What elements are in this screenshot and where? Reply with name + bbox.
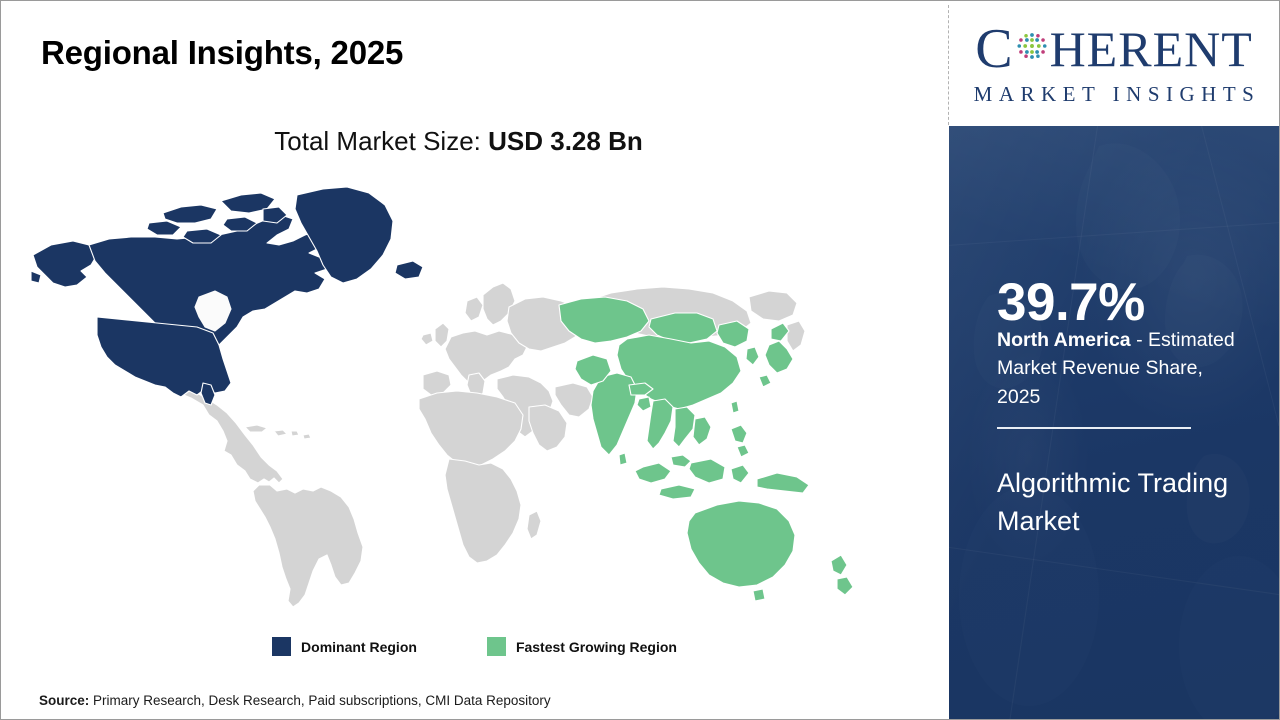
- logo-letter-c: C: [975, 21, 1013, 77]
- source-label: Source:: [39, 693, 89, 708]
- world-map: [31, 179, 911, 619]
- legend-swatch-dominant: [272, 637, 291, 656]
- legend-label-dominant: Dominant Region: [301, 639, 417, 655]
- map-legend: Dominant Region Fastest Growing Region: [1, 637, 948, 656]
- left-content-pane: Regional Insights, 2025 Total Market Siz…: [1, 1, 948, 719]
- legend-item-dominant: Dominant Region: [272, 637, 417, 656]
- market-name: Algorithmic Trading Market: [997, 464, 1259, 541]
- page-title: Regional Insights, 2025: [41, 34, 403, 72]
- total-market-size: Total Market Size: USD 3.28 Bn: [1, 126, 916, 157]
- source-text: Primary Research, Desk Research, Paid su…: [89, 693, 550, 708]
- panel-watermark-graphic: [949, 126, 1279, 719]
- panel-divider-rule: [997, 427, 1191, 429]
- stat-description: North America - Estimated Market Revenue…: [997, 326, 1249, 411]
- stat-region-name: North America: [997, 329, 1131, 351]
- market-size-label: Total Market Size:: [274, 126, 488, 156]
- stat-percentage: 39.7%: [997, 276, 1145, 329]
- infographic-canvas: Regional Insights, 2025 Total Market Siz…: [0, 0, 1280, 720]
- logo-tagline: MARKET INSIGHTS: [968, 82, 1261, 107]
- world-map-svg: [31, 179, 911, 619]
- logo-wordmark-text: HERENT: [1050, 24, 1253, 74]
- market-size-value: USD 3.28 Bn: [488, 126, 643, 156]
- legend-label-fastest-growing: Fastest Growing Region: [516, 639, 677, 655]
- dotted-globe-icon: [1015, 29, 1049, 63]
- brand-logo: C: [949, 1, 1279, 126]
- legend-swatch-fastest-growing: [487, 637, 506, 656]
- source-note: Source: Primary Research, Desk Research,…: [39, 693, 551, 708]
- legend-item-fastest-growing: Fastest Growing Region: [487, 637, 677, 656]
- stat-panel: 39.7% North America - Estimated Market R…: [949, 126, 1279, 719]
- map-dominant-regions: [31, 187, 423, 405]
- map-fastest-growing-regions: [559, 297, 853, 601]
- logo-wordmark: C: [975, 20, 1253, 78]
